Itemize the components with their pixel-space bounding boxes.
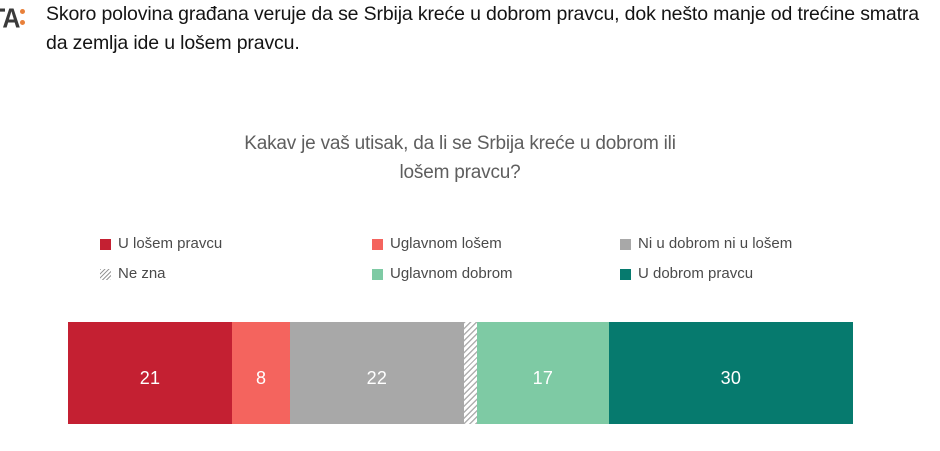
bar-segment-u-dobrom-pravcu[interactable]: 30 — [609, 322, 853, 424]
legend-label: U dobrom pravcu — [638, 265, 753, 283]
legend-swatch-icon — [372, 269, 383, 280]
bar-segment-value: 21 — [140, 369, 161, 387]
bar-segment-ne-zna[interactable] — [464, 322, 477, 424]
legend-swatch-icon — [100, 239, 111, 250]
bar-segment-u-losem-pravcu[interactable]: 21 — [68, 322, 232, 424]
chart-title: Kakav je vaš utisak, da li se Srbija kre… — [140, 129, 780, 187]
legend-label: U lošem pravcu — [118, 235, 222, 253]
legend-label: Ne zna — [118, 265, 166, 283]
legend-swatch-icon — [620, 239, 631, 250]
chart-title-line-2: lošem pravcu? — [400, 162, 521, 183]
legend-item-uglavnom-dobrom[interactable]: Uglavnom dobrom — [372, 265, 620, 283]
legend-swatch-hatched-icon — [100, 269, 111, 280]
chart-title-line-1: Kakav je vaš utisak, da li se Srbija kre… — [244, 133, 675, 154]
legend-item-u-losem-pravcu[interactable]: U lošem pravcu — [100, 235, 372, 253]
bar-segment-uglavnom-dobrom[interactable]: 17 — [477, 322, 609, 424]
legend-label: Uglavnom dobrom — [390, 265, 513, 283]
bar-segment-value: 30 — [721, 369, 742, 387]
stacked-bar: 21 8 22 17 30 — [68, 322, 853, 424]
legend-label: Uglavnom lošem — [390, 235, 502, 253]
bar-segment-ni-u-dobrom-ni-u-losem[interactable]: 22 — [290, 322, 463, 424]
bar-segment-value: 8 — [256, 369, 266, 387]
legend-item-ne-zna[interactable]: Ne zna — [100, 265, 372, 283]
legend-swatch-icon — [620, 269, 631, 280]
chart-container: Kakav je vaš utisak, da li se Srbija kre… — [0, 0, 940, 451]
chart-legend: U lošem pravcu Uglavnom lošem Ni u dobro… — [100, 229, 860, 289]
legend-item-u-dobrom-pravcu[interactable]: U dobrom pravcu — [620, 265, 860, 283]
legend-swatch-icon — [372, 239, 383, 250]
bar-segment-value: 22 — [367, 369, 388, 387]
legend-item-uglavnom-losem[interactable]: Uglavnom lošem — [372, 235, 620, 253]
legend-label: Ni u dobrom ni u lošem — [638, 235, 792, 253]
bar-segment-uglavnom-losem[interactable]: 8 — [232, 322, 290, 424]
legend-item-ni-u-dobrom-ni-u-losem[interactable]: Ni u dobrom ni u lošem — [620, 235, 860, 253]
bar-segment-value: 17 — [533, 369, 554, 387]
